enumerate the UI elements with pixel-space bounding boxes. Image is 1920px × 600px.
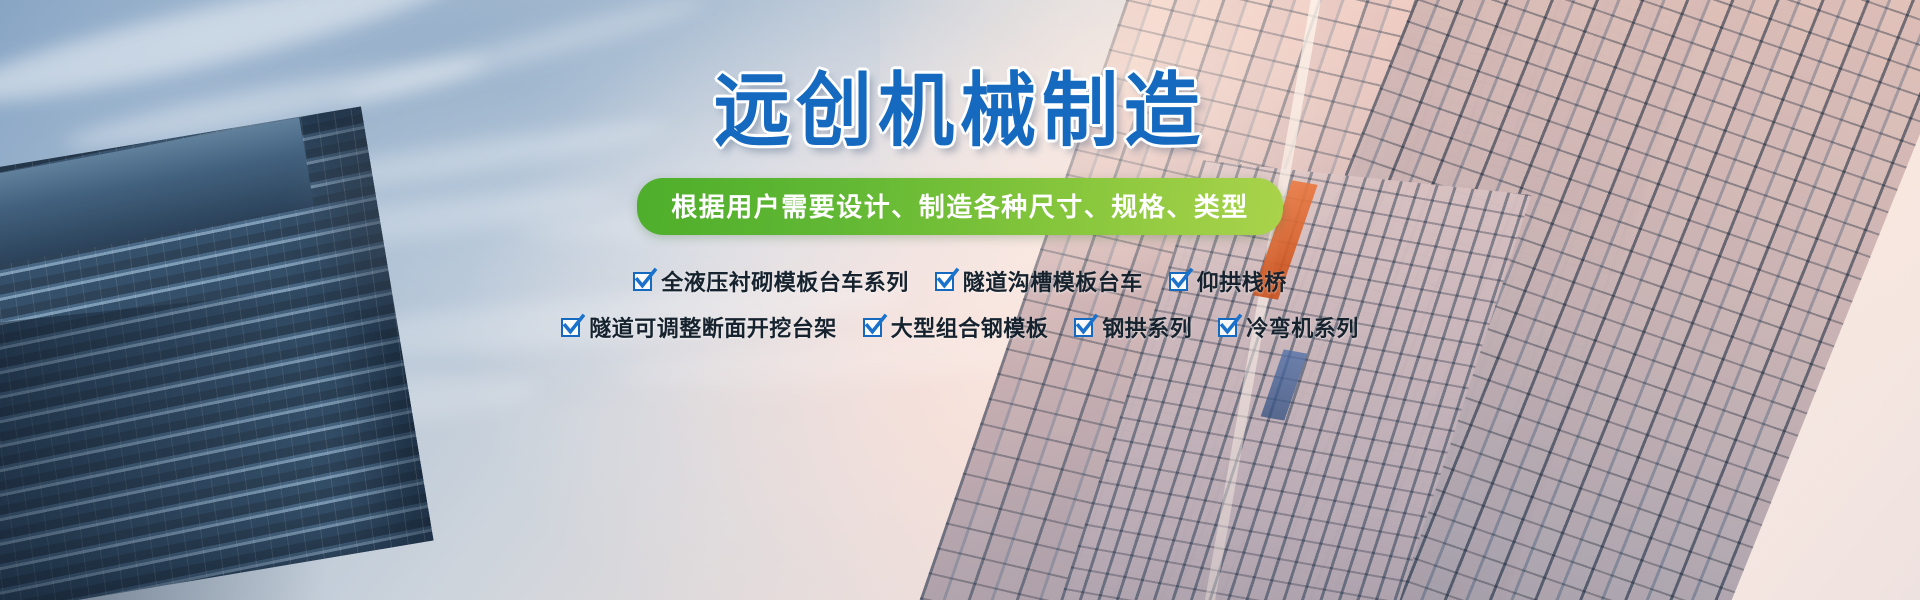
feature-label: 仰拱栈桥 (1197, 265, 1287, 297)
checkbox-checked-icon[interactable] (1218, 318, 1237, 337)
checkbox-checked-icon[interactable] (1074, 318, 1093, 337)
checkbox-checked-icon[interactable] (863, 318, 882, 337)
banner-subtitle-pill: 根据用户需要设计、制造各种尺寸、规格、类型 (637, 178, 1283, 235)
feature-label: 全液压衬砌模板台车系列 (661, 265, 909, 297)
checkbox-checked-icon[interactable] (935, 272, 954, 291)
feature-label: 冷弯机系列 (1246, 311, 1359, 343)
left-building-shadow (0, 274, 496, 600)
feature-item[interactable]: 钢拱系列 (1074, 311, 1192, 343)
feature-item[interactable]: 大型组合钢模板 (863, 311, 1049, 343)
checkbox-checked-icon[interactable] (633, 272, 652, 291)
feature-label: 隧道沟槽模板台车 (963, 265, 1143, 297)
feature-list: 全液压衬砌模板台车系列 隧道沟槽模板台车 仰拱栈桥 (561, 265, 1359, 343)
feature-row: 全液压衬砌模板台车系列 隧道沟槽模板台车 仰拱栈桥 (633, 265, 1287, 297)
feature-label: 大型组合钢模板 (891, 311, 1049, 343)
feature-item[interactable]: 全液压衬砌模板台车系列 (633, 265, 909, 297)
promo-banner: 远创机械制造 根据用户需要设计、制造各种尺寸、规格、类型 全液压衬砌模板台车系列… (0, 0, 1920, 600)
feature-label: 隧道可调整断面开挖台架 (589, 311, 837, 343)
feature-row: 隧道可调整断面开挖台架 大型组合钢模板 钢拱系列 (561, 311, 1359, 343)
checkbox-checked-icon[interactable] (1169, 272, 1188, 291)
checkbox-checked-icon[interactable] (561, 318, 580, 337)
feature-item[interactable]: 仰拱栈桥 (1169, 265, 1287, 297)
feature-item[interactable]: 冷弯机系列 (1218, 311, 1359, 343)
banner-headline: 远创机械制造 (714, 72, 1206, 153)
feature-item[interactable]: 隧道可调整断面开挖台架 (561, 311, 837, 343)
feature-item[interactable]: 隧道沟槽模板台车 (935, 265, 1143, 297)
feature-label: 钢拱系列 (1102, 311, 1192, 343)
